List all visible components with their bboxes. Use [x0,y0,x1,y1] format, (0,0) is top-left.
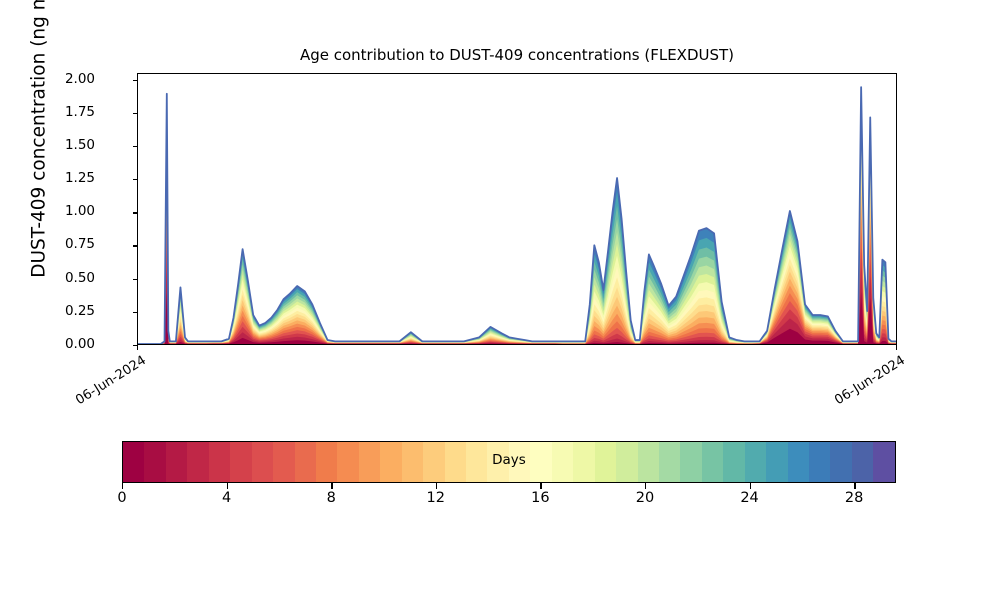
colorbar-segment [530,442,551,482]
colorbar-segment [830,442,851,482]
colorbar-segment [638,442,659,482]
colorbar-segment [702,442,723,482]
colorbar-segment [552,442,573,482]
y-tick-label: 1.50 [0,137,95,153]
colorbar-tick-label: 0 [102,490,142,506]
colorbar-segment [166,442,187,482]
y-tick-label: 0.75 [0,236,95,252]
area-chart-svg [138,74,896,344]
colorbar-segment [187,442,208,482]
colorbar-tick-mark [227,483,228,489]
colorbar-tick-mark [540,483,541,489]
colorbar-tick-mark [436,483,437,489]
colorbar-segment [295,442,316,482]
colorbar-segment [809,442,830,482]
y-tick-label: 0.00 [0,336,95,352]
colorbar-segment [852,442,873,482]
y-tick-label: 0.50 [0,270,95,286]
colorbar-tick-mark [750,483,751,489]
colorbar-segment [595,442,616,482]
y-tick-label: 1.00 [0,203,95,219]
y-tick-label: 1.75 [0,104,95,120]
colorbar-segment [680,442,701,482]
x-tick-mark [137,345,138,350]
colorbar-segment [616,442,637,482]
colorbar-tick-mark [122,483,123,489]
colorbar-tick-label: 12 [416,490,456,506]
colorbar-tick-label: 20 [625,490,665,506]
colorbar-segment [745,442,766,482]
colorbar-segment [423,442,444,482]
colorbar-segment [466,442,487,482]
colorbar-segment [788,442,809,482]
colorbar-tick-label: 8 [311,490,351,506]
chart-title: Age contribution to DUST-409 concentrati… [137,46,897,64]
x-tick-label: 06-Jun-2024 [65,353,149,413]
plot-area[interactable] [137,73,897,345]
colorbar-tick-mark [854,483,855,489]
y-tick-label: 2.00 [0,71,95,87]
colorbar-segment [487,442,508,482]
colorbar-segment [509,442,530,482]
colorbar-segment [380,442,401,482]
colorbar-segment [402,442,423,482]
colorbar-segment [723,442,744,482]
colorbar-segment [359,442,380,482]
colorbar-tick-label: 4 [207,490,247,506]
colorbar-segment [659,442,680,482]
colorbar-tick-label: 28 [834,490,874,506]
colorbar-tick-mark [331,483,332,489]
colorbar-segment [316,442,337,482]
colorbar-tick-label: 16 [520,490,560,506]
colorbar-tick-mark [645,483,646,489]
colorbar-segment [230,442,251,482]
y-tick-label: 1.25 [0,170,95,186]
colorbar-segment [144,442,165,482]
colorbar-segment [209,442,230,482]
colorbar-tick-label: 24 [730,490,770,506]
colorbar-segment [252,442,273,482]
figure-canvas: Age contribution to DUST-409 concentrati… [0,0,1000,600]
colorbar[interactable] [122,441,896,483]
colorbar-segment [337,442,358,482]
colorbar-segment [445,442,466,482]
colorbar-segment [123,442,144,482]
x-tick-label: 06-Jun-2024 [824,353,908,413]
colorbar-segment [766,442,787,482]
colorbar-segment [873,442,894,482]
colorbar-segment [573,442,594,482]
x-tick-mark [896,345,897,350]
y-tick-label: 0.25 [0,303,95,319]
colorbar-segment [273,442,294,482]
